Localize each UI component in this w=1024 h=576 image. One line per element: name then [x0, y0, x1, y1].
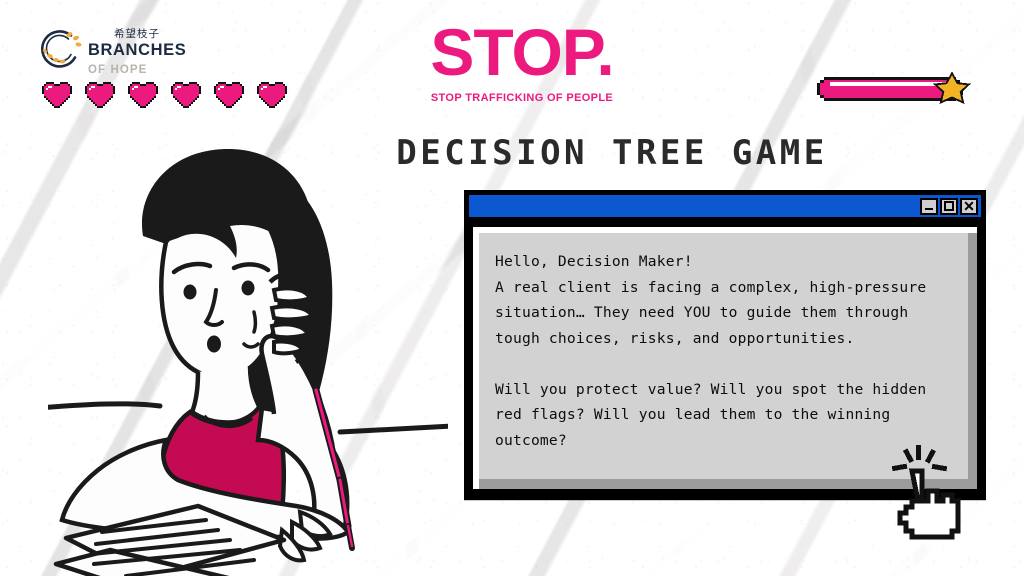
pixel-heart-icon — [255, 80, 289, 110]
window-body: Hello, Decision Maker! A real client is … — [473, 227, 977, 489]
pixel-heart-icon — [212, 80, 246, 110]
minimize-button[interactable] — [920, 198, 938, 215]
window-titlebar[interactable] — [467, 193, 983, 219]
horizontal-scrollbar[interactable] — [479, 479, 968, 489]
logo-chinese-name: 希望枝子 — [114, 28, 160, 40]
maximize-button[interactable] — [940, 198, 958, 215]
logo-wordmark: 希望枝子 BRANCHES OF HOPE — [88, 22, 188, 78]
pixel-heart-icon — [169, 80, 203, 110]
game-dialog-window: Hello, Decision Maker! A real client is … — [464, 190, 986, 500]
pixel-heart-icon — [40, 80, 74, 110]
vertical-scrollbar[interactable] — [968, 233, 977, 489]
woman-thinking-at-desk-illustration — [48, 140, 448, 576]
pixel-heart-icon — [126, 80, 160, 110]
branches-of-hope-logo[interactable]: 希望枝子 BRANCHES OF HOPE — [38, 26, 188, 74]
lives-heart-row — [40, 80, 289, 110]
stop-campaign-logo: STOP. STOP TRAFFICKING OF PEOPLE — [422, 22, 622, 104]
stop-headline: STOP. — [422, 22, 622, 83]
game-title-text: DECISION TREE GAME — [396, 133, 827, 173]
branch-leaves-icon — [38, 27, 84, 73]
logo-brand-name: BRANCHES — [88, 41, 186, 59]
close-button[interactable] — [960, 198, 978, 215]
xp-progress-bar[interactable] — [812, 72, 1002, 116]
pixel-heart-icon — [83, 80, 117, 110]
slide-canvas: 希望枝子 BRANCHES OF HOPE — [0, 0, 1024, 576]
logo-tagline: OF HOPE — [88, 64, 147, 76]
stop-tagline: STOP TRAFFICKING OF PEOPLE — [422, 92, 622, 104]
dialog-message-text: Hello, Decision Maker! A real client is … — [479, 233, 968, 489]
